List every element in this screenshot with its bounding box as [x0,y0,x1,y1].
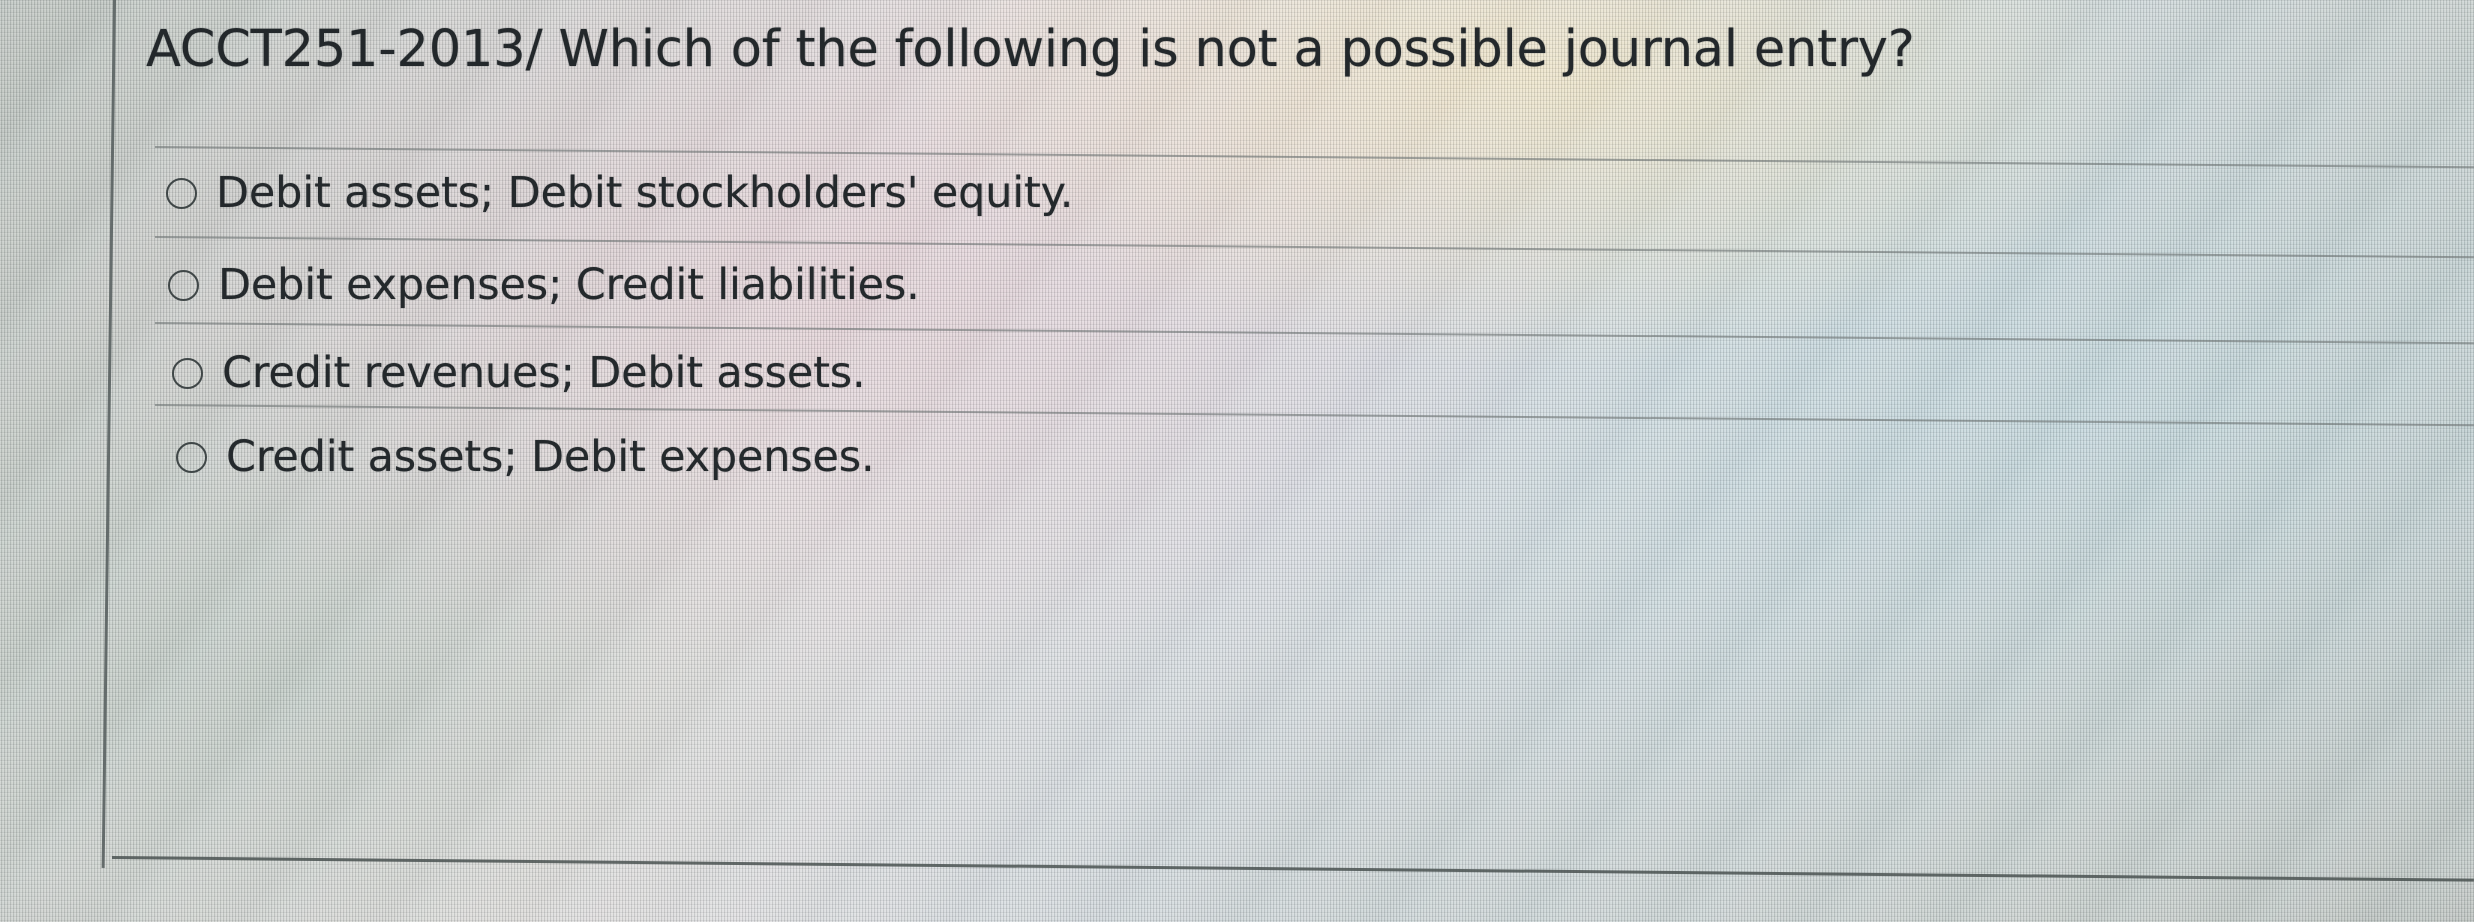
option-divider [155,146,2474,168]
radio-button-icon[interactable] [166,178,197,209]
question-text: ACCT251-2013/ Which of the following is … [146,22,2446,78]
quiz-question-screenshot: ACCT251-2013/ Which of the following is … [0,0,2474,922]
answer-option-c[interactable]: Credit revenues; Debit assets. [0,322,2474,412]
answer-option-label: Debit assets; Debit stockholders' equity… [216,172,1073,215]
answer-option-label: Debit expenses; Credit liabilities. [218,264,920,307]
radio-button-icon[interactable] [168,270,199,301]
card-bottom-border [112,856,2474,882]
question-card: ACCT251-2013/ Which of the following is … [0,0,2474,922]
radio-button-icon[interactable] [172,358,203,389]
option-divider [155,404,2474,426]
answer-option-b[interactable]: Debit expenses; Credit liabilities. [0,236,2474,326]
radio-button-icon[interactable] [176,442,207,473]
answer-option-d[interactable]: Credit assets; Debit expenses. [0,404,2474,494]
answer-option-label: Credit assets; Debit expenses. [226,436,874,479]
option-divider [155,236,2474,258]
answer-option-label: Credit revenues; Debit assets. [222,352,865,395]
answer-option-a[interactable]: Debit assets; Debit stockholders' equity… [0,146,2474,236]
option-divider [155,322,2474,344]
